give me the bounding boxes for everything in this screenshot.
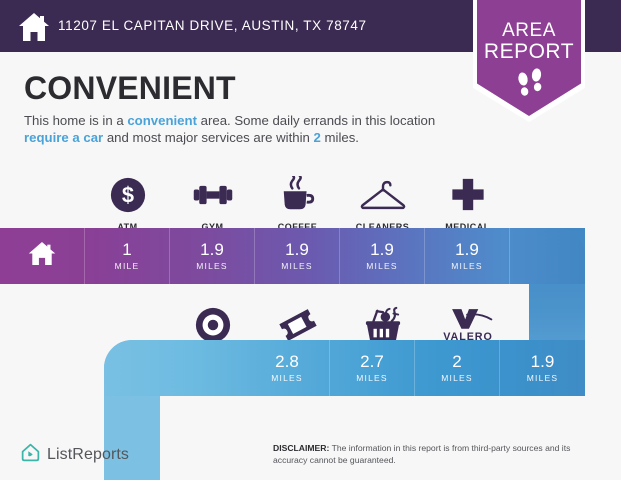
distance-row-1: 1 MILE 1.9 MILES 1.9 MILES 1.9 MILES 1.9 — [0, 228, 585, 284]
distance-row-2: 2.8 MILES 2.7 MILES 2 MILES 1.9 MILES — [104, 340, 585, 396]
row2-cell-gas: 1.9 MILES — [500, 340, 585, 396]
band-left-notch — [160, 396, 204, 440]
row1-cell-atm: 1 MILE — [85, 228, 170, 284]
desc-highlight3: 2 — [314, 130, 321, 145]
listreports-house-icon — [20, 442, 41, 468]
distance-value: 2 — [452, 353, 461, 371]
row1-cell-gym: 1.9 MILES — [170, 228, 255, 284]
distance-value: 1.9 — [200, 241, 224, 259]
icon-cell-coffee: COFFEE — [255, 166, 340, 232]
distance-unit: MILE — [115, 261, 140, 271]
page-description: This home is in a convenient area. Some … — [24, 112, 444, 146]
icon-cell-gym: GYM — [170, 166, 255, 232]
row2-cell-movie-theater: 2.7 MILES — [330, 340, 415, 396]
band-right-mask — [585, 228, 621, 396]
icon-row-1: $ ATM GYM — [85, 166, 510, 232]
desc-highlight1: convenient — [127, 113, 197, 128]
desc-part1: This home is in a — [24, 113, 127, 128]
distance-unit: MILES — [356, 373, 388, 383]
icon-cell-atm: $ ATM — [85, 166, 170, 232]
home-icon — [18, 12, 48, 40]
disclaimer-label: DISCLAIMER: — [273, 443, 329, 453]
distance-value: 1.9 — [370, 241, 394, 259]
row2-cell-pharmacy: 2.8 MILES — [245, 340, 330, 396]
clothes-hanger-icon — [360, 173, 406, 217]
atm-dollar-icon: $ — [109, 173, 147, 217]
area-report-page: 11207 EL CAPITAN DRIVE, AUSTIN, TX 78747… — [0, 0, 621, 480]
desc-part4: miles. — [321, 130, 359, 145]
row2-cell-groceries: 2 MILES — [415, 340, 500, 396]
distance-unit: MILES — [281, 261, 313, 271]
page-title: CONVENIENT — [24, 70, 236, 107]
badge-line2: REPORT — [477, 40, 581, 64]
distance-unit: MILES — [196, 261, 228, 271]
footprints-icon — [515, 66, 545, 100]
property-address: 11207 EL CAPITAN DRIVE, AUSTIN, TX 78747 — [58, 18, 367, 33]
distance-unit: MILES — [451, 261, 483, 271]
row1-cell-coffee: 1.9 MILES — [255, 228, 340, 284]
distance-value: 1 — [122, 241, 131, 259]
badge-line1: AREA — [477, 20, 581, 42]
distance-value: 2.8 — [275, 353, 299, 371]
distance-value: 1.9 — [531, 353, 555, 371]
distance-unit: MILES — [366, 261, 398, 271]
row1-cell-cleaners: 1.9 MILES — [340, 228, 425, 284]
distance-value: 1.9 — [285, 241, 309, 259]
listreports-wordmark: ListReports — [47, 446, 129, 464]
svg-text:$: $ — [121, 183, 133, 208]
distance-unit: MILES — [271, 373, 303, 383]
row1-cell-medical: 1.9 MILES — [425, 228, 510, 284]
dumbbell-icon — [191, 173, 235, 217]
icon-cell-medical: MEDICAL — [425, 166, 510, 232]
disclaimer: DISCLAIMER: The information in this repo… — [273, 443, 603, 466]
desc-part3: and most major services are within — [103, 130, 313, 145]
area-report-badge: AREA REPORT — [473, 0, 585, 122]
coffee-cup-icon — [278, 173, 318, 217]
desc-highlight2: require a car — [24, 130, 103, 145]
icon-cell-cleaners: CLEANERS — [340, 166, 425, 232]
row2-cells: 2.8 MILES 2.7 MILES 2 MILES 1.9 MILES — [245, 340, 585, 396]
home-icon — [27, 240, 57, 272]
distance-unit: MILES — [441, 373, 473, 383]
row1-home-cell — [0, 228, 85, 284]
listreports-logo: ListReports — [20, 442, 129, 468]
desc-part2: area. Some daily errands in this locatio… — [197, 113, 435, 128]
medical-cross-icon — [450, 173, 486, 217]
distance-unit: MILES — [527, 373, 559, 383]
distance-value: 1.9 — [455, 241, 479, 259]
row1-cells: 1 MILE 1.9 MILES 1.9 MILES 1.9 MILES 1.9 — [0, 228, 510, 284]
distance-value: 2.7 — [360, 353, 384, 371]
